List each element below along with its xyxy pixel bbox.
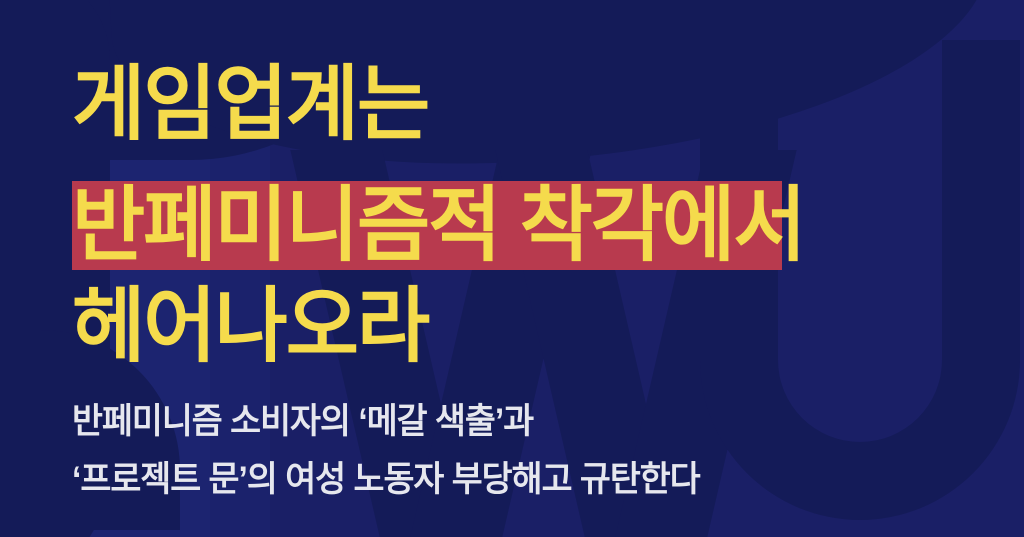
- headline-line-2-wrapper: 반페미니즘적 착각에서: [0, 181, 755, 270]
- poster-canvas: 게임업계는 반페미니즘적 착각에서 헤어나오라 반페미니즘 소비자의 ‘메갈 색…: [0, 0, 1024, 537]
- subtitle-line-2: ‘프로젝트 문’의 여성 노동자 부당해고 규탄한다: [72, 462, 700, 497]
- subtitle-line-1: 반페미니즘 소비자의 ‘메갈 색출’과: [72, 404, 533, 439]
- headline-line-1: 게임업계는: [72, 64, 428, 146]
- headline-line-3: 헤어나오라: [72, 286, 428, 368]
- watermark-letter-u: [700, 40, 1020, 520]
- headline-line-2: 반페미니즘적 착각에서: [72, 181, 805, 270]
